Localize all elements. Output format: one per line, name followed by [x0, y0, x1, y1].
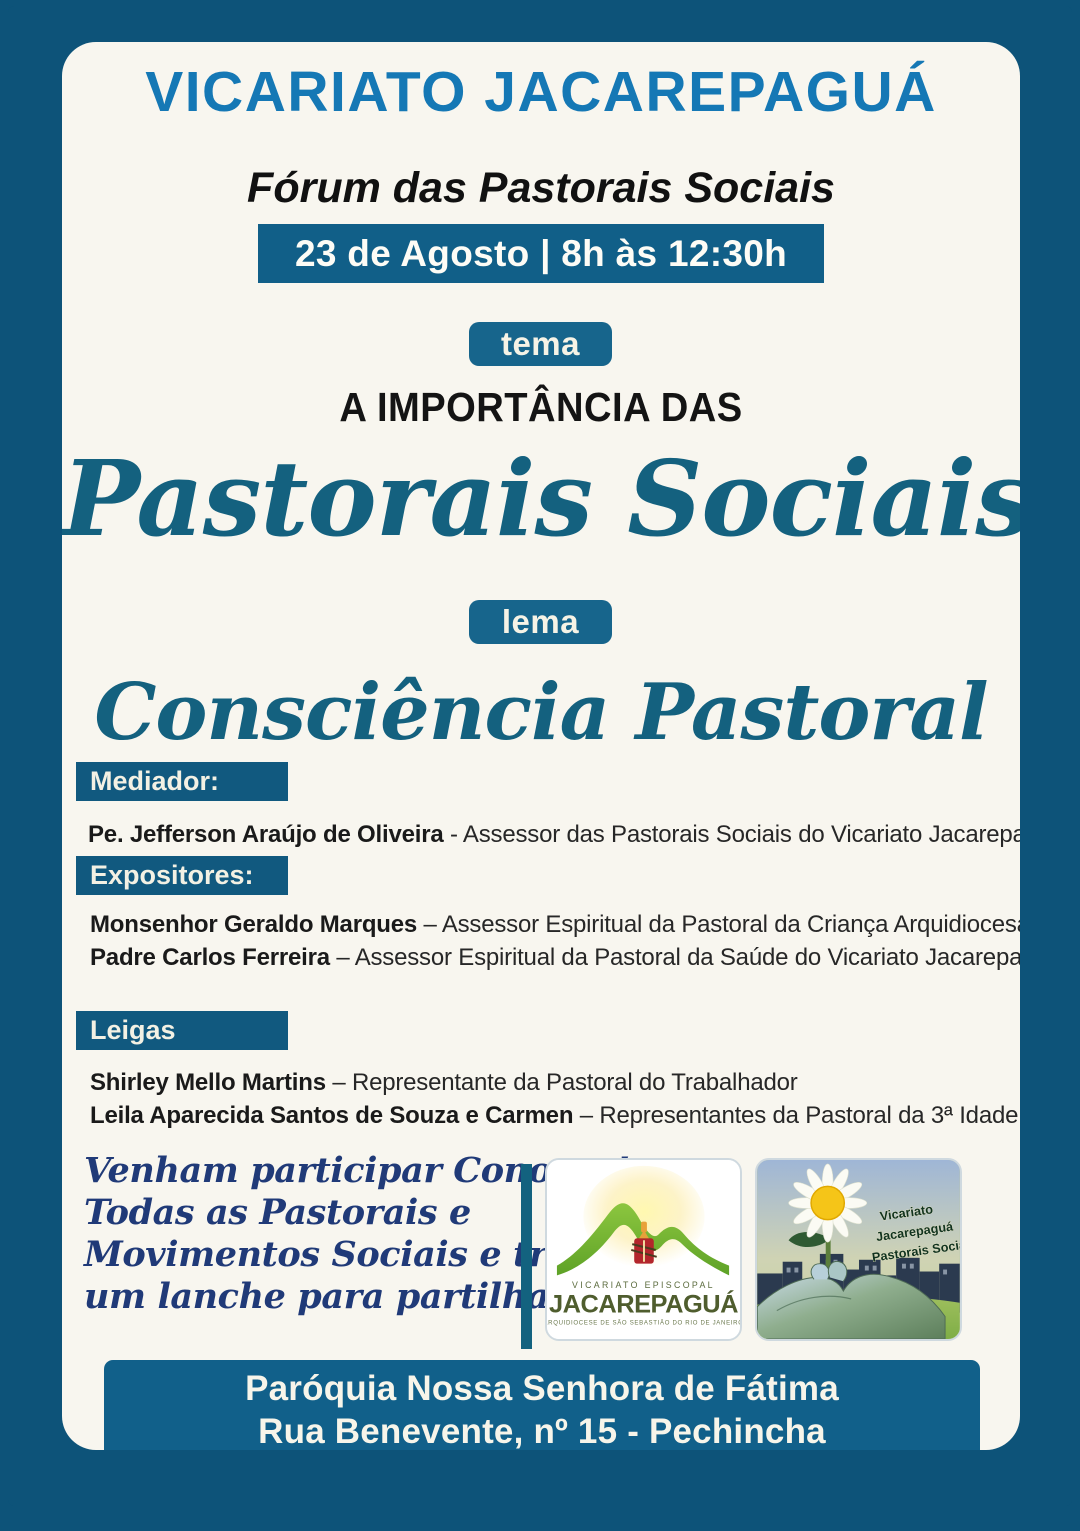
speaker-name: Monsenhor Geraldo Marques — [90, 911, 424, 938]
invitation-line: Todas as Pastorais e — [84, 1192, 534, 1234]
poster-content: VICARIATO JACAREPAGUÁ Fórum das Pastorai… — [62, 42, 1020, 1450]
mediator-entry: Pe. Jefferson Araújo de Oliveira - Asses… — [88, 821, 1020, 849]
poster-inner-panel: VICARIATO JACAREPAGUÁ Fórum das Pastorai… — [62, 42, 1020, 1450]
section-badge-leigas: Leigas — [76, 1011, 288, 1050]
laywoman-role: – Representante da Pastoral do Trabalhad… — [332, 1069, 797, 1096]
invitation-line: Venham participar Conosco! — [84, 1150, 534, 1192]
section-badge-expositores-label: Expositores: — [90, 860, 254, 891]
list-item: Leila Aparecida Santos de Souza e Carmen… — [90, 1102, 1018, 1130]
list-item: Monsenhor Geraldo Marques – Assessor Esp… — [90, 911, 1020, 939]
invitation-line: um lanche para partilhar! — [84, 1276, 534, 1318]
laywoman-name: Shirley Mello Martins — [90, 1069, 332, 1096]
tema-badge: tema — [469, 322, 612, 366]
vicariato-pastorais-sociais-logo: Vicariato Jacarepaguá Pastorais Sociais — [755, 1158, 962, 1341]
svg-text:VICARIATO EPISCOPAL: VICARIATO EPISCOPAL — [572, 1280, 715, 1290]
mediator-role: - Assessor das Pastorais Sociais do Vica… — [450, 821, 1020, 848]
section-badge-leigas-label: Leigas — [90, 1015, 176, 1046]
event-subtitle: Fórum das Pastorais Sociais — [62, 164, 1020, 213]
tema-badge-label: tema — [501, 325, 580, 363]
speaker-role: – Assessor Espiritual da Pastoral da Cri… — [424, 911, 1020, 938]
invitation-block: Venham participar Conosco! Todas as Past… — [84, 1150, 534, 1318]
laywoman-name: Leila Aparecida Santos de Souza e Carmen — [90, 1102, 580, 1129]
speaker-role: – Assessor Espiritual da Pastoral da Saú… — [336, 944, 1020, 971]
list-item: Padre Carlos Ferreira – Assessor Espirit… — [90, 944, 1020, 972]
motto-script-text: Consciência Pastoral — [62, 667, 1020, 758]
section-badge-mediador: Mediador: — [76, 762, 288, 801]
vicariato-episcopal-jacarepagua-logo: VICARIATO EPISCOPAL JACAREPAGUÁ ARQUIDIO… — [545, 1158, 742, 1341]
theme-lead-text: A IMPORTÂNCIA DAS — [96, 384, 987, 431]
vertical-divider — [521, 1164, 532, 1349]
theme-script-text: Pastorais Sociais — [62, 437, 1020, 560]
laywoman-role: – Representantes da Pastoral da 3ª Idade — [580, 1102, 1019, 1129]
svg-text:ARQUIDIOCESE DE SÃO SEBASTIÃO: ARQUIDIOCESE DE SÃO SEBASTIÃO DO RIO DE … — [547, 1319, 740, 1326]
invitation-line: Movimentos Sociais e tragam — [84, 1234, 534, 1276]
svg-text:JACAREPAGUÁ: JACAREPAGUÁ — [549, 1290, 738, 1319]
poster: VICARIATO JACAREPAGUÁ Fórum das Pastorai… — [0, 0, 1080, 1531]
lema-badge-label: lema — [502, 603, 579, 641]
pastorais-sociais-logo-artwork: Vicariato Jacarepaguá Pastorais Sociais — [757, 1160, 960, 1339]
lema-badge: lema — [469, 600, 612, 644]
date-time-bar: 23 de Agosto | 8h às 12:30h — [258, 224, 824, 283]
page-title: VICARIATO JACAREPAGUÁ — [62, 59, 1020, 125]
parish-name: Paróquia Nossa Senhora de Fátima — [245, 1367, 839, 1410]
section-badge-mediador-label: Mediador: — [90, 766, 219, 797]
mediator-name: Pe. Jefferson Araújo de Oliveira — [88, 821, 450, 848]
list-item: Shirley Mello Martins – Representante da… — [90, 1069, 798, 1097]
date-time-text: 23 de Agosto | 8h às 12:30h — [295, 233, 787, 275]
street-address: Rua Benevente, nº 15 - Pechincha — [258, 1410, 826, 1450]
speaker-name: Padre Carlos Ferreira — [90, 944, 336, 971]
venue-address-bar: Paróquia Nossa Senhora de Fátima Rua Ben… — [104, 1360, 980, 1450]
vicariato-logo-artwork: VICARIATO EPISCOPAL JACAREPAGUÁ ARQUIDIO… — [547, 1160, 740, 1339]
section-badge-expositores: Expositores: — [76, 856, 288, 895]
